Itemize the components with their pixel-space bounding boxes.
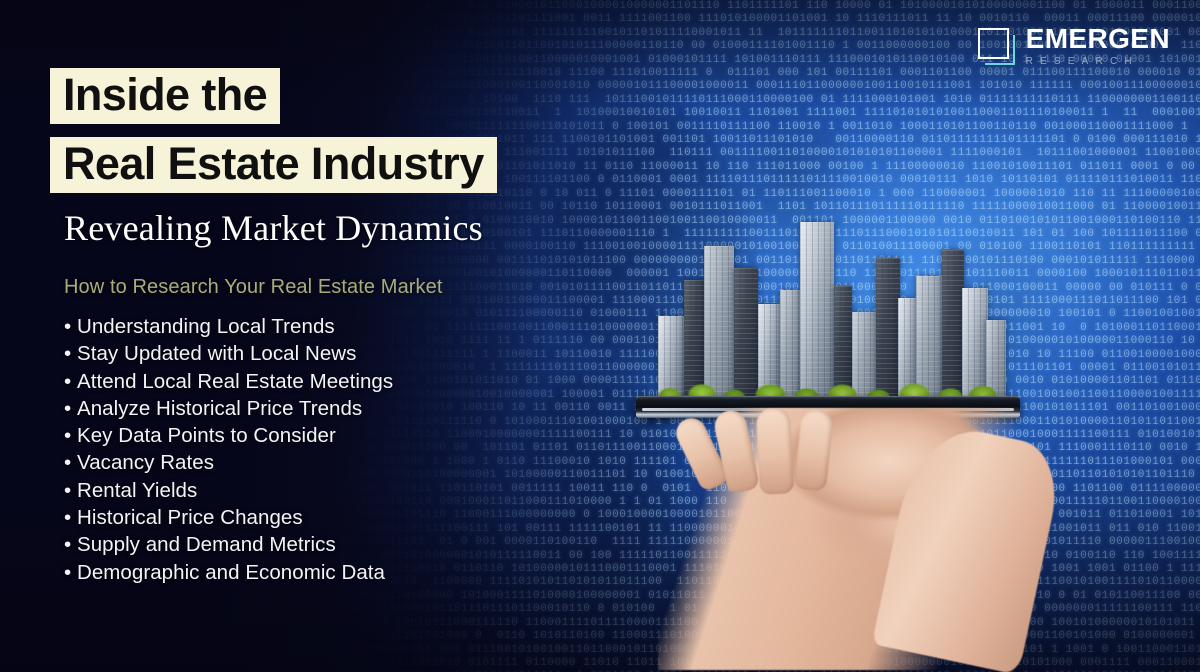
list-item: •Analyze Historical Price Trends [64, 395, 650, 422]
miniature-city-icon [648, 196, 1008, 408]
emergen-research-logo[interactable]: EMERGEN RESEARCH [978, 25, 1170, 67]
bullet-icon: • [64, 422, 77, 449]
marketing-banner: 1111 010011110 1010 0 1010101 0 01111110… [0, 0, 1200, 672]
page-title-line-1: Inside the [63, 69, 267, 120]
title-line-2-highlight: Real Estate Industry [50, 137, 497, 193]
list-item-label: Rental Yields [77, 479, 197, 502]
list-item: •Supply and Demand Metrics [64, 531, 650, 558]
hand-holding-city-artwork [648, 196, 1048, 672]
list-item: •Historical Price Changes [64, 504, 650, 531]
hero-subtitle: Revealing Market Dynamics [64, 210, 650, 246]
research-points-list: •Understanding Local Trends•Stay Updated… [64, 313, 650, 586]
list-item-label: Understanding Local Trends [77, 315, 335, 338]
list-item-label: Stay Updated with Local News [77, 342, 356, 365]
list-item: •Vacancy Rates [64, 449, 650, 476]
page-title-line-2: Real Estate Industry [63, 138, 484, 189]
list-section-heading: How to Research Your Real Estate Market [64, 276, 650, 299]
list-item: •Stay Updated with Local News [64, 340, 650, 367]
list-item-label: Vacancy Rates [77, 451, 214, 474]
list-item-label: Analyze Historical Price Trends [77, 397, 362, 420]
bullet-icon: • [64, 449, 77, 476]
bullet-icon: • [64, 340, 77, 367]
brand-name: EMERGEN [1026, 25, 1170, 53]
list-item: •Demographic and Economic Data [64, 559, 650, 586]
title-line-1-highlight: Inside the [50, 68, 280, 124]
list-item: •Attend Local Real Estate Meetings [64, 368, 650, 395]
bullet-icon: • [64, 368, 77, 395]
bullet-icon: • [64, 504, 77, 531]
hero-content: Inside the Real Estate Industry Revealin… [50, 68, 650, 586]
list-item: •Key Data Points to Consider [64, 422, 650, 449]
list-item: •Understanding Local Trends [64, 313, 650, 340]
brand-subtitle: RESEARCH [1026, 57, 1170, 67]
list-item-label: Supply and Demand Metrics [77, 533, 336, 556]
list-item-label: Historical Price Changes [77, 506, 303, 529]
bullet-icon: • [64, 531, 77, 558]
list-item-label: Key Data Points to Consider [77, 424, 336, 447]
bullet-icon: • [64, 477, 77, 504]
bullet-icon: • [64, 395, 77, 422]
list-item-label: Demographic and Economic Data [77, 561, 385, 584]
square-outline-icon [978, 28, 1015, 65]
list-item: •Rental Yields [64, 477, 650, 504]
bullet-icon: • [64, 313, 77, 340]
bullet-icon: • [64, 559, 77, 586]
list-item-label: Attend Local Real Estate Meetings [77, 370, 393, 393]
